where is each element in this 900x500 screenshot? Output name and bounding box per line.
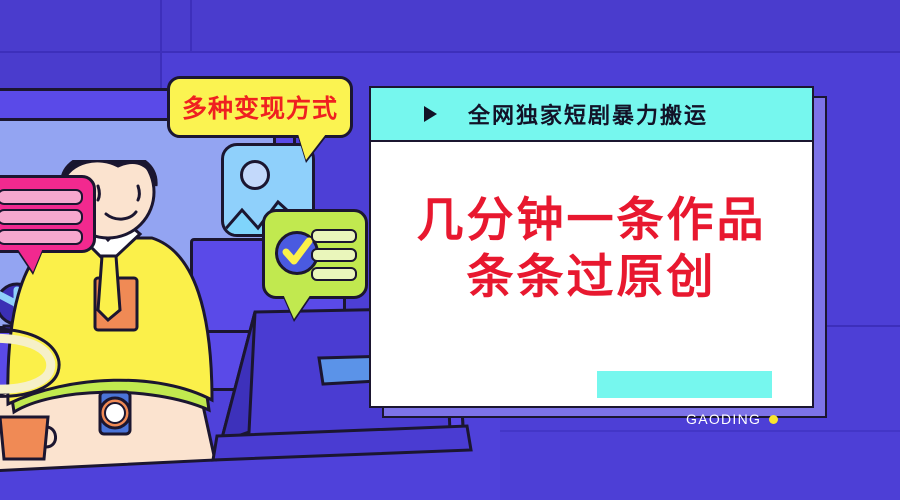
background-grid-line-horizontal: [0, 51, 900, 53]
yellow-tag-text: 多种变现方式: [182, 89, 338, 125]
headline-line-1: 几分钟一条作品: [417, 194, 767, 247]
green-bubble-line-1: [311, 229, 357, 243]
yellow-tag-bubble: 多种变现方式: [167, 76, 353, 138]
coffee-mug: [0, 405, 66, 467]
background-grid-line-vertical-2: [190, 0, 192, 52]
green-message-bubble: [262, 209, 368, 299]
play-triangle-icon: [424, 106, 437, 122]
watermark: GAODING: [686, 411, 778, 427]
card-body: 几分钟一条作品 条条过原创: [371, 140, 812, 406]
headline-line-2: 条条过原创: [467, 251, 717, 304]
pink-bubble-tail: [17, 248, 43, 272]
card-header-title: 全网独家短剧暴力搬运: [468, 98, 708, 130]
watermark-dot-icon: [769, 415, 778, 424]
green-bubble-line-3: [311, 267, 357, 281]
yellow-bubble-tail: [298, 134, 326, 160]
background-divider-right: [823, 325, 900, 327]
pink-message-bubble: [0, 175, 96, 253]
card-cta-bar[interactable]: [597, 371, 772, 398]
pink-bubble-line-1: [0, 189, 83, 205]
card-header-bar: 全网独家短剧暴力搬运: [371, 88, 812, 142]
pink-bubble-line-2: [0, 209, 83, 225]
green-bubble-line-2: [311, 248, 357, 262]
pink-bubble-line-3: [0, 229, 83, 245]
poster-canvas: 多种变现方式 全网独家短剧暴力搬运 几分钟一条作品 条条过原创 GAODING: [0, 0, 900, 500]
watermark-text: GAODING: [686, 411, 761, 427]
green-bubble-tail: [283, 294, 311, 319]
main-content-card: 全网独家短剧暴力搬运 几分钟一条作品 条条过原创: [369, 86, 814, 408]
